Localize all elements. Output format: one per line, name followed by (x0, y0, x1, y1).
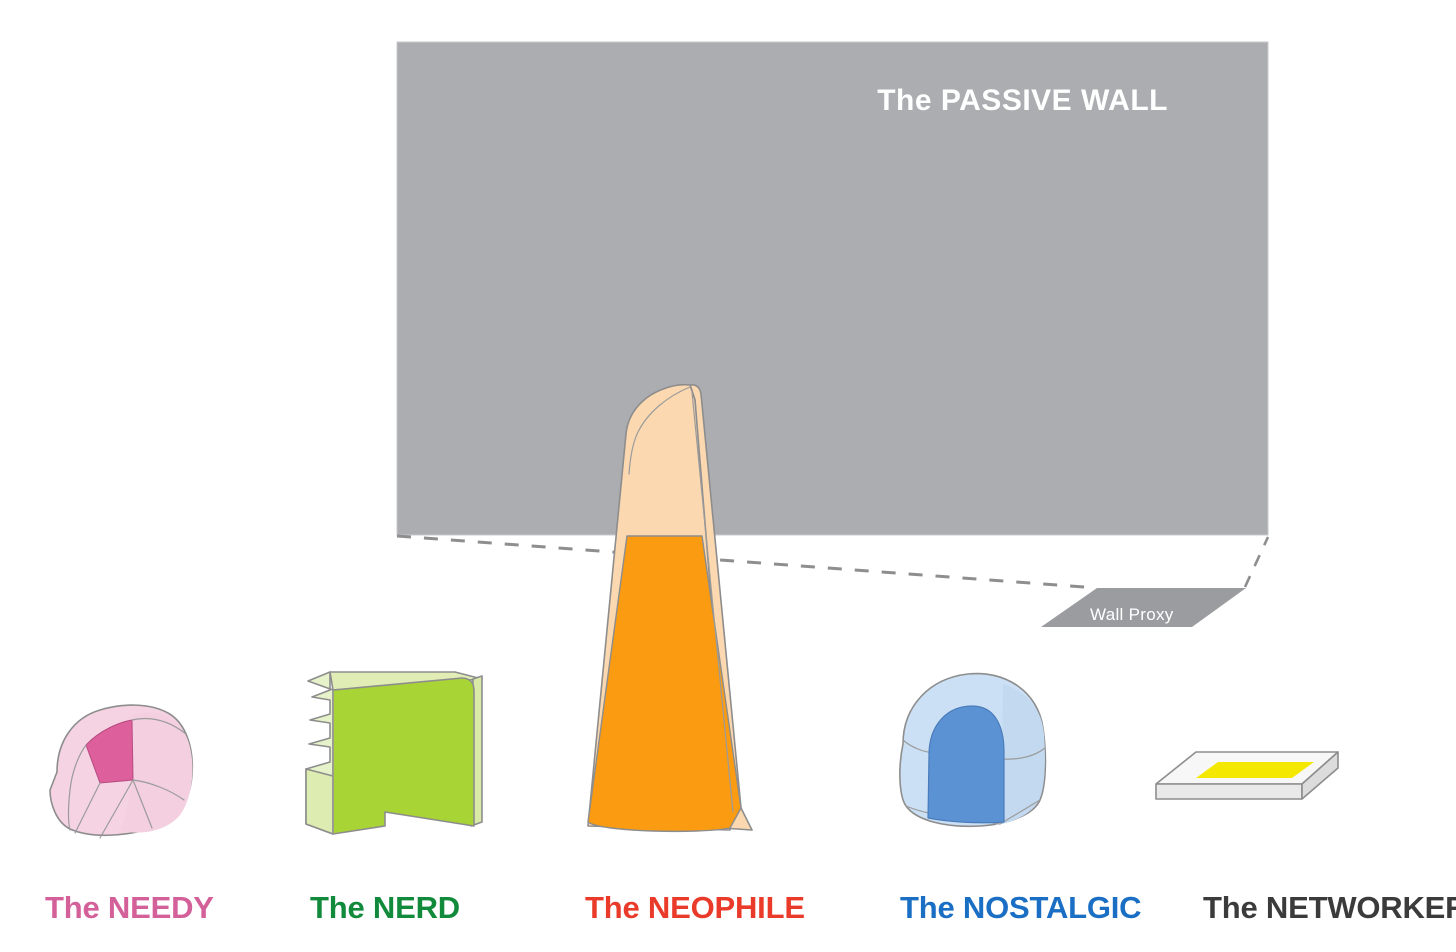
passive-wall-group: The PASSIVE WALL (397, 42, 1268, 535)
scene-svg: The PASSIVE WALL Wall Proxy (0, 0, 1456, 952)
persona-shape-nerd (306, 672, 482, 834)
networker-tray-front (1156, 784, 1302, 799)
persona-labels-group: The NEEDY The NERD The NEOPHILE The NOST… (45, 890, 1456, 925)
connector-group (397, 536, 1268, 588)
passive-wall-label: The PASSIVE WALL (877, 84, 1168, 117)
illustration-canvas: The PASSIVE WALL Wall Proxy (0, 0, 1456, 952)
persona-label-neophile: The NEOPHILE (585, 890, 805, 925)
wall-proxy-label: Wall Proxy (1090, 605, 1174, 624)
ground-dashed-line (397, 536, 1097, 588)
nerd-book-back-cover (306, 769, 333, 834)
persona-label-networker: The NETWORKER (1203, 890, 1456, 925)
nostalgic-igloo-entrance (928, 706, 1004, 823)
wall-proxy-group: Wall Proxy (1041, 588, 1246, 627)
persona-shape-networker (1156, 752, 1338, 799)
persona-label-needy: The NEEDY (45, 890, 214, 925)
nerd-book-front-cover (333, 678, 474, 834)
proxy-dashed-line (1245, 537, 1268, 587)
persona-shape-nostalgic (900, 674, 1046, 827)
persona-shape-needy (50, 705, 192, 838)
persona-label-nerd: The NERD (310, 890, 460, 925)
persona-label-nostalgic: The NOSTALGIC (900, 890, 1141, 925)
